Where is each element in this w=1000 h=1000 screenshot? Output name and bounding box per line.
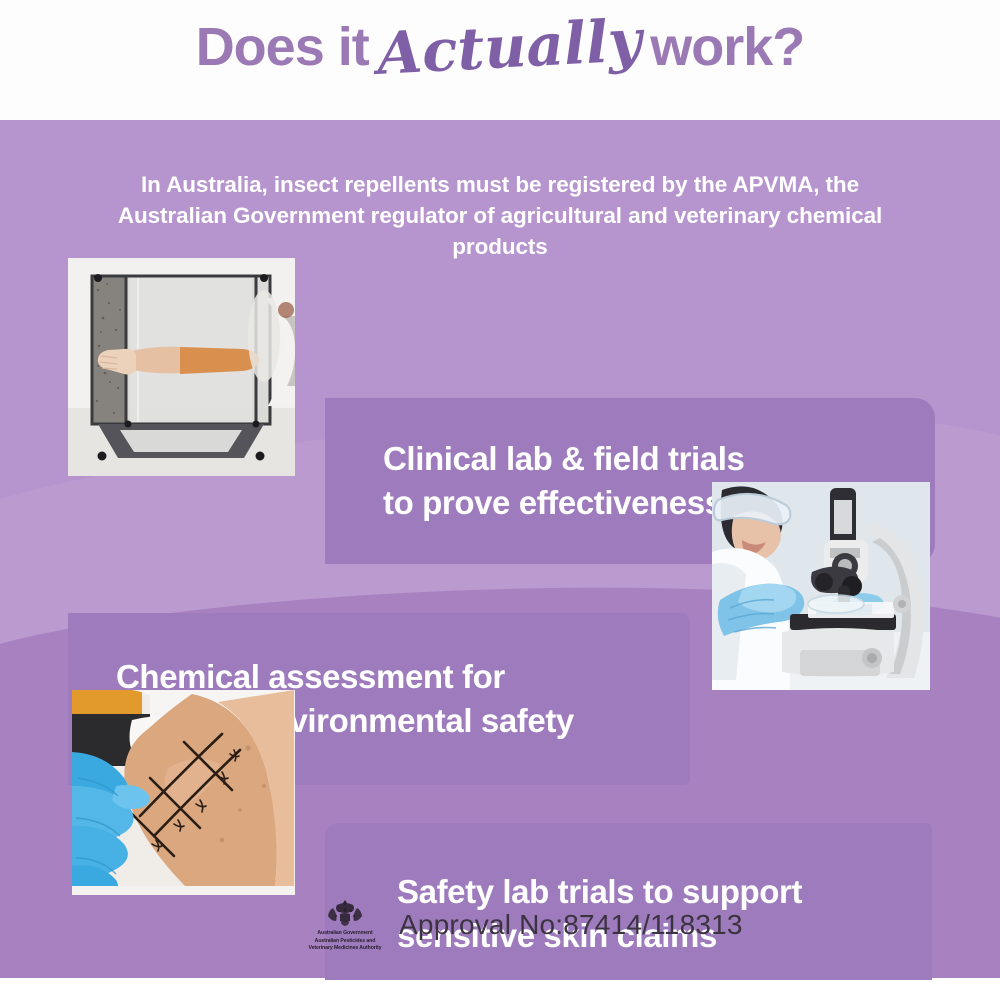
apvma-logo-text: Australian Government Australian Pestici…	[305, 930, 385, 953]
title-part-2: work?	[650, 17, 804, 77]
intro-paragraph: In Australia, insect repellents must be …	[100, 169, 900, 262]
crest-line-3: Veterinary Medicines Authority	[305, 945, 385, 953]
mosquito-cage-arm-test-photo	[68, 258, 295, 476]
title-part-1: Does it	[196, 17, 369, 77]
header-band: Does it Actually work?	[0, 0, 1000, 120]
title-script-word: Actually	[372, 11, 647, 83]
scientist-microscope-photo	[712, 482, 930, 690]
infographic-canvas: Does it Actually work? In Australia, ins…	[0, 0, 1000, 1000]
crest-line-2: Australian Pesticides and	[305, 938, 385, 946]
apvma-logo: Australian Government Australian Pestici…	[305, 898, 385, 953]
page-title: Does it Actually work?	[0, 18, 1000, 76]
footer: Australian Government Australian Pestici…	[305, 898, 743, 953]
skin-patch-test-photo	[72, 690, 295, 895]
card-1-line-1: Clinical lab & field trials	[383, 437, 935, 481]
crest-line-1: Australian Government	[305, 930, 385, 938]
approval-number: Approval No:87414/118313	[399, 909, 743, 941]
australian-coat-of-arms-icon	[323, 898, 367, 928]
